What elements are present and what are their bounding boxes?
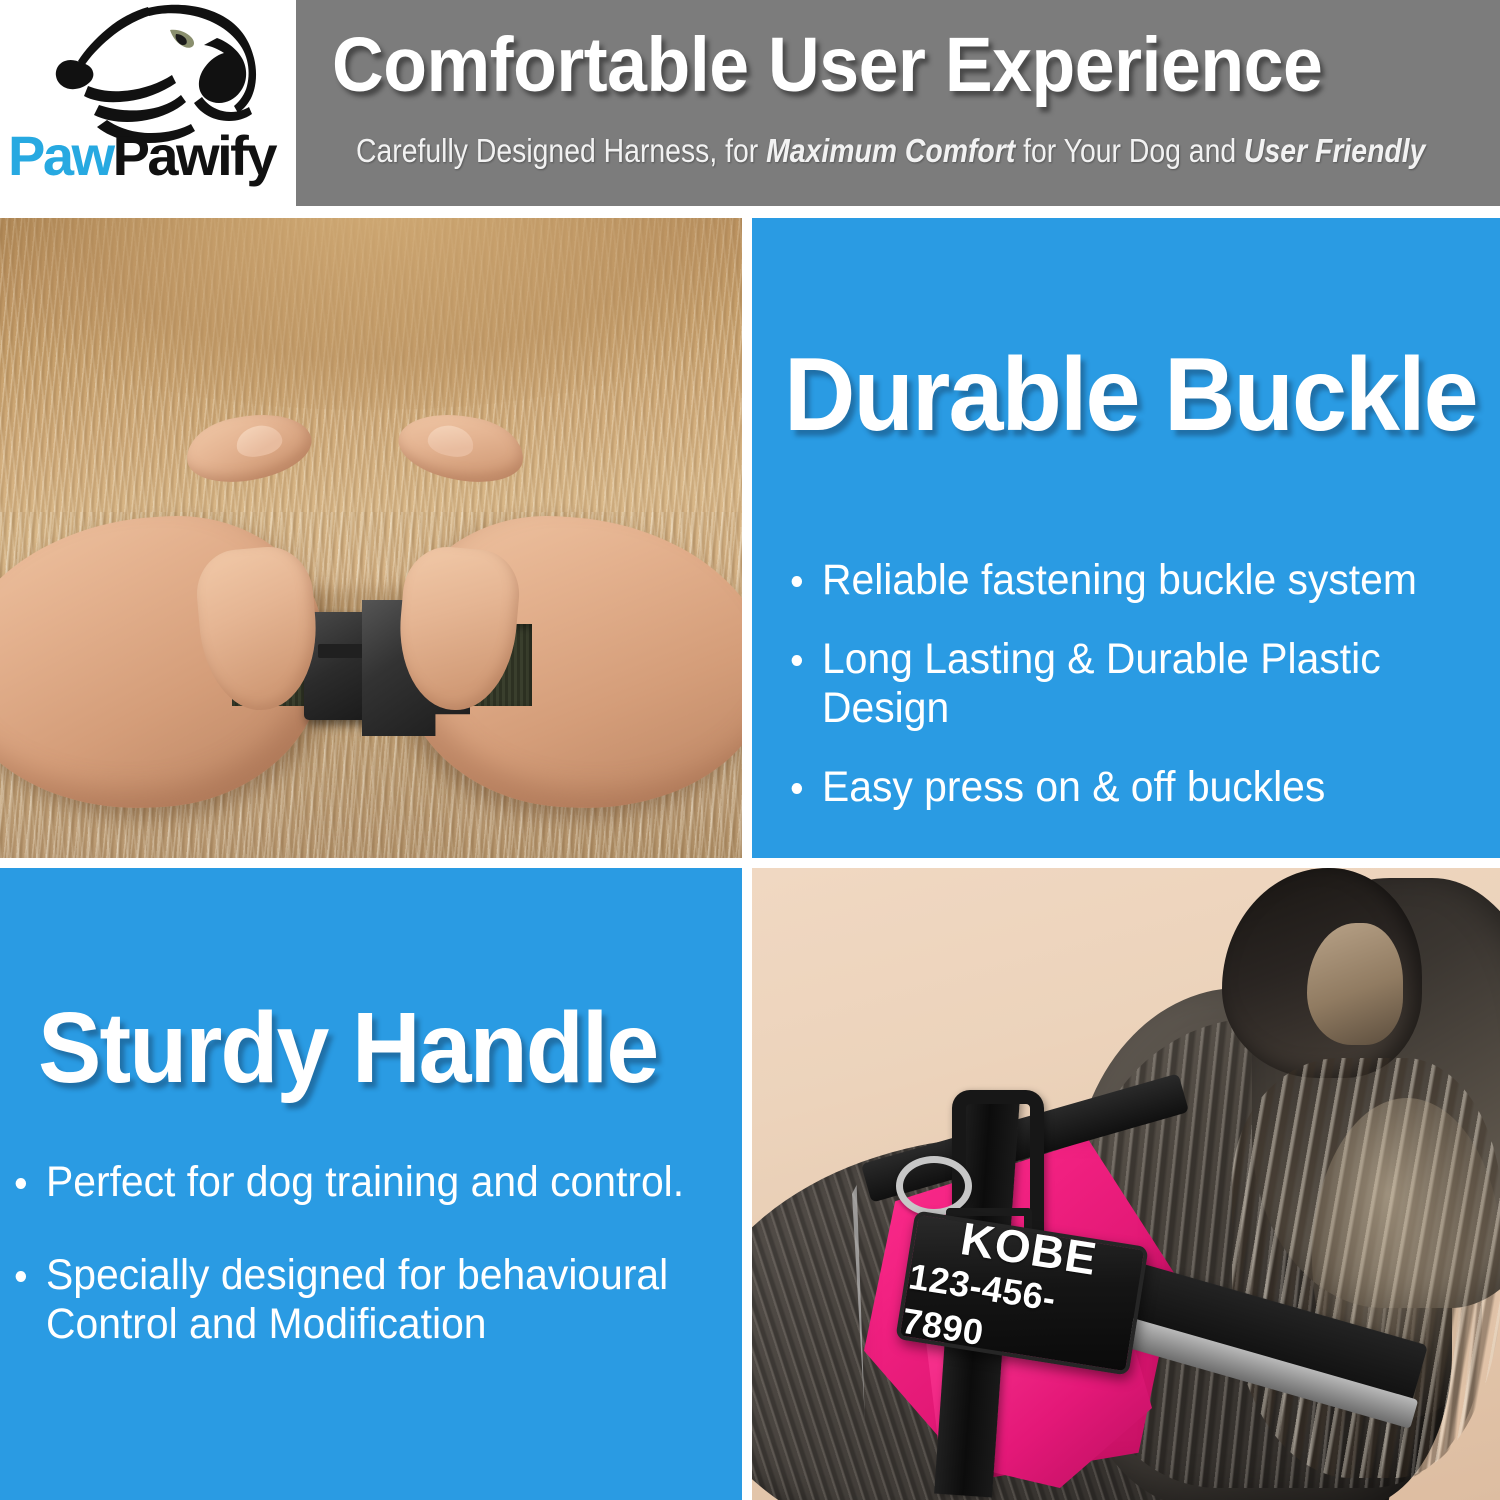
header-banner: Comfortable User Experience Carefully De… xyxy=(296,0,1500,206)
buckle-photo-background xyxy=(0,218,742,858)
brand-wordmark: PawPawify xyxy=(8,128,296,184)
list-item: Easy press on & off buckles xyxy=(784,763,1440,812)
durable-buckle-title: Durable Buckle xyxy=(784,343,1477,447)
brand-name-part1: Paw xyxy=(8,124,113,187)
list-item: Long Lasting & Durable Plastic Design xyxy=(784,635,1440,733)
buckle-closeup-photo xyxy=(0,218,742,858)
product-infographic: PawPawify Comfortable User Experience Ca… xyxy=(0,0,1500,1500)
list-item: Specially designed for behavioural Contr… xyxy=(8,1251,688,1349)
list-item: Perfect for dog training and control. xyxy=(8,1158,688,1207)
brand-logo: PawPawify xyxy=(0,0,296,206)
subtitle-part-1: Carefully Designed Harness, for xyxy=(356,132,766,169)
dog-head-icon xyxy=(52,2,282,144)
header: PawPawify Comfortable User Experience Ca… xyxy=(0,0,1500,206)
sturdy-handle-title: Sturdy Handle xyxy=(38,998,657,1098)
dog-photo-background: KOBE 123-456-7890 xyxy=(752,868,1500,1500)
list-item: Reliable fastening buckle system xyxy=(784,556,1440,605)
sturdy-handle-bullet-list: Perfect for dog training and control. Sp… xyxy=(8,1158,724,1393)
dog-wearing-harness-photo: KOBE 123-456-7890 xyxy=(752,868,1500,1500)
durable-buckle-bullet-list: Reliable fastening buckle system Long La… xyxy=(784,556,1474,842)
dog-ear-inner xyxy=(1307,923,1403,1045)
subtitle-part-2: for Your Dog and xyxy=(1015,132,1244,169)
page-subtitle: Carefully Designed Harness, for Maximum … xyxy=(356,133,1345,169)
sturdy-handle-feature-panel: Sturdy Handle Perfect for dog training a… xyxy=(0,868,742,1500)
subtitle-emphasis-1: Maximum Comfort xyxy=(766,132,1015,169)
durable-buckle-feature-panel: Durable Buckle Reliable fastening buckle… xyxy=(752,218,1500,858)
brand-name-part2: Pawify xyxy=(113,124,275,187)
subtitle-emphasis-2: User Friendly xyxy=(1244,132,1425,169)
page-title: Comfortable User Experience xyxy=(332,24,1402,107)
harness-leash-ring-icon xyxy=(896,1156,972,1216)
